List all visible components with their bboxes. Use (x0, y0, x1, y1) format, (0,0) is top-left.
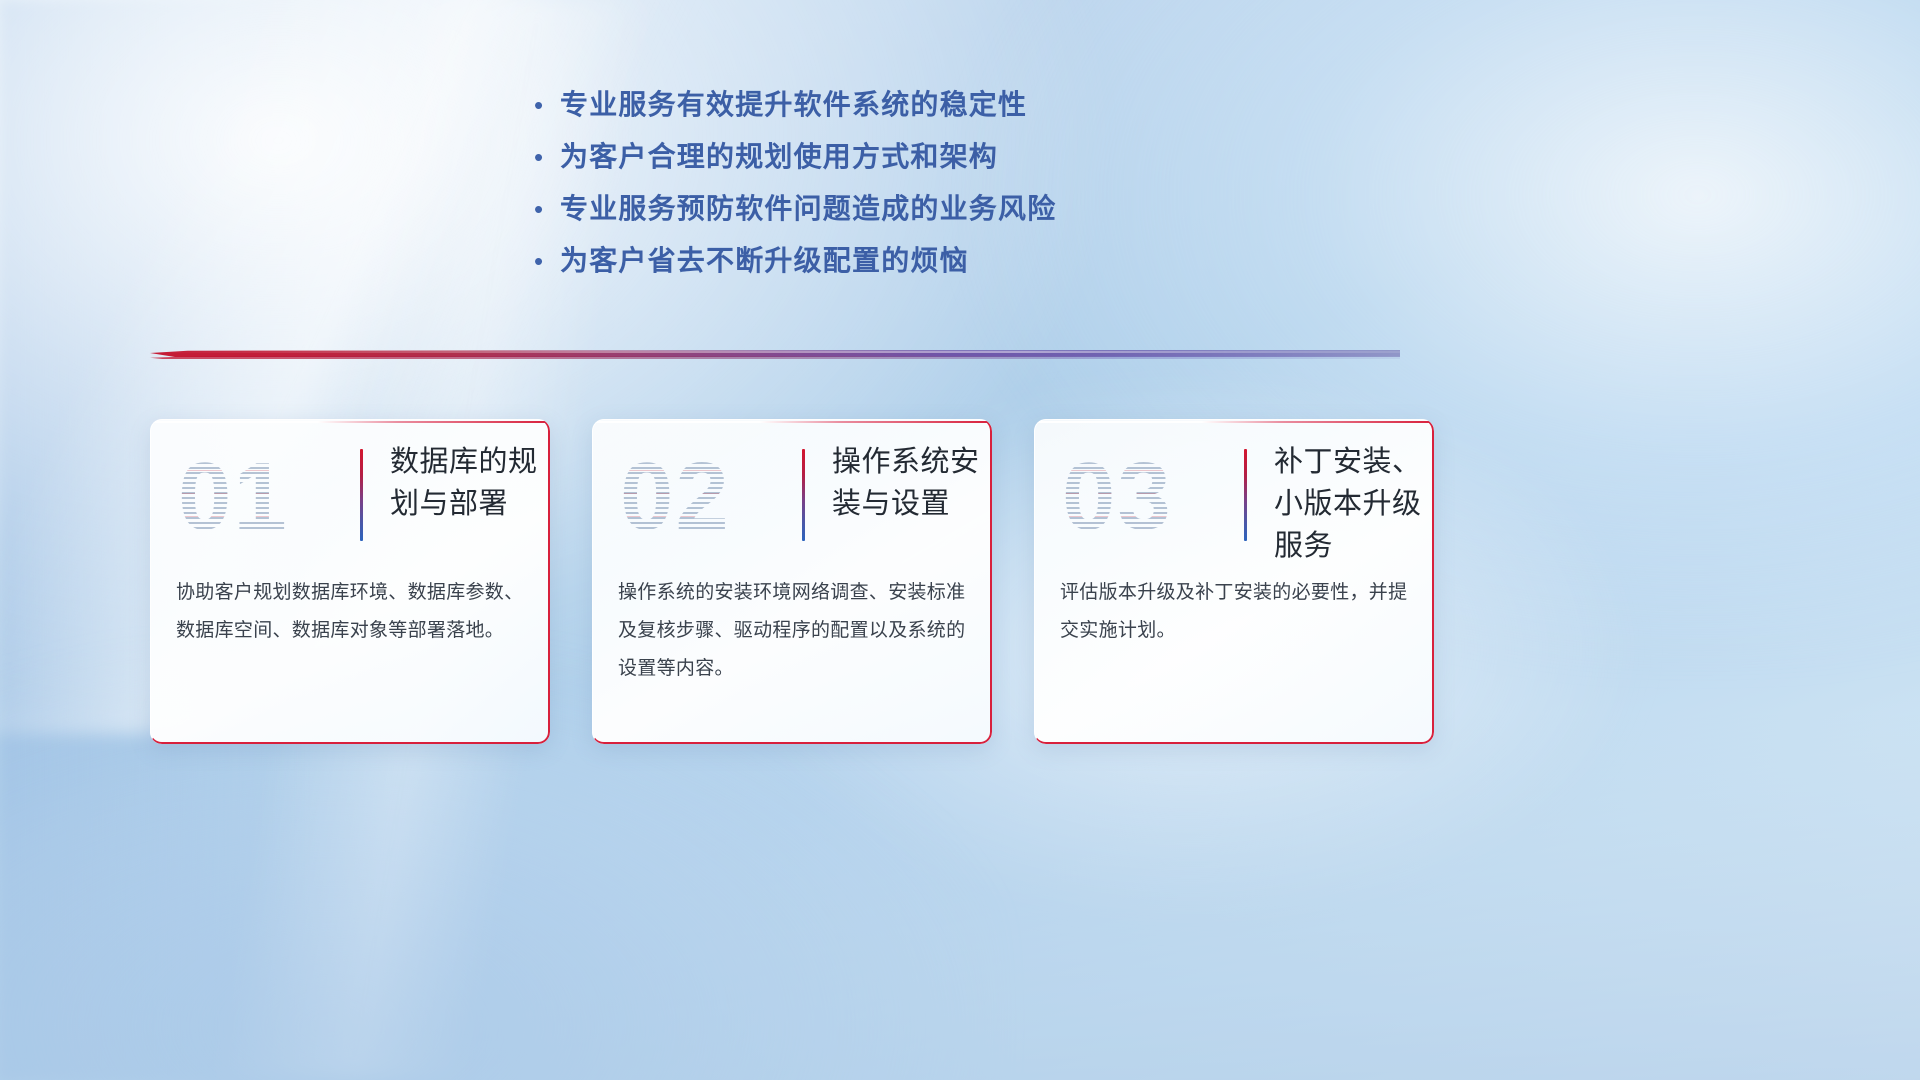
bullet-dot-icon: • (534, 248, 560, 274)
benefits-bullet-list: • 专业服务有效提升软件系统的稳定性 • 为客户合理的规划使用方式和架构 • 专… (534, 88, 1294, 296)
card-number-ghost: 01 (178, 447, 348, 547)
card-number-ghost: 02 (620, 447, 790, 547)
divider-highlight (150, 351, 1400, 353)
service-card[interactable]: 03 03 补丁安装、小版本升级服务 评估版本升级及补丁安装的必要性，并提交实施… (1034, 419, 1434, 744)
service-card[interactable]: 02 02 操作系统安装与设置 操作系统的安装环境网络调查、安装标准及复核步骤、… (592, 419, 992, 744)
card-title: 补丁安装、小版本升级服务 (1274, 441, 1424, 567)
card-description: 协助客户规划数据库环境、数据库参数、数据库空间、数据库对象等部署落地。 (176, 574, 528, 650)
bullet-item: • 专业服务预防软件问题造成的业务风险 (534, 192, 1294, 244)
card-accent-bar (360, 449, 363, 541)
card-accent-bar (1244, 449, 1247, 541)
bullet-text: 专业服务有效提升软件系统的稳定性 (560, 88, 1027, 122)
bullet-item: • 为客户合理的规划使用方式和架构 (534, 140, 1294, 192)
card-description: 评估版本升级及补丁安装的必要性，并提交实施计划。 (1060, 574, 1412, 650)
card-number-ghost: 03 (1062, 447, 1232, 547)
bullet-dot-icon: • (534, 92, 560, 118)
service-card[interactable]: 01 01 数据库的规划与部署 协助客户规划数据库环境、数据库参数、数据库空间、… (150, 419, 550, 744)
card-title: 操作系统安装与设置 (832, 441, 982, 525)
divider-shadow-bar (150, 356, 1400, 359)
card-accent-bar (802, 449, 805, 541)
bullet-dot-icon: • (534, 196, 560, 222)
background-bottom-vignette (0, 713, 1920, 1080)
card-description: 操作系统的安装环境网络调查、安装标准及复核步骤、驱动程序的配置以及系统的设置等内… (618, 574, 970, 688)
bullet-text: 为客户合理的规划使用方式和架构 (560, 140, 998, 174)
service-card-list: 01 01 数据库的规划与部署 协助客户规划数据库环境、数据库参数、数据库空间、… (150, 419, 1434, 744)
bullet-item: • 专业服务有效提升软件系统的稳定性 (534, 88, 1294, 140)
bullet-text: 专业服务预防软件问题造成的业务风险 (560, 192, 1056, 226)
bullet-dot-icon: • (534, 144, 560, 170)
card-title: 数据库的规划与部署 (390, 441, 540, 525)
bullet-item: • 为客户省去不断升级配置的烦恼 (534, 244, 1294, 296)
bullet-text: 为客户省去不断升级配置的烦恼 (560, 244, 969, 278)
section-divider (150, 350, 1400, 362)
